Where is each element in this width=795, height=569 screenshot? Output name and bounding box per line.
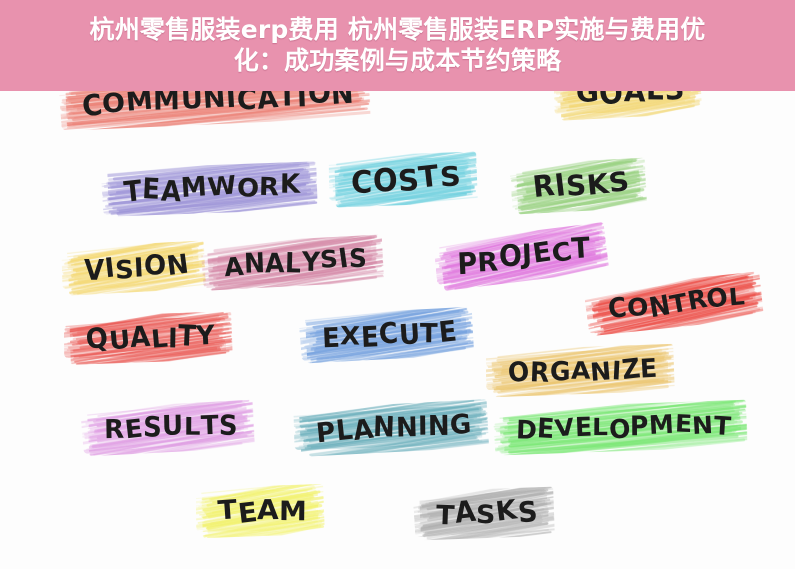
word-label: PLANNING [315,411,472,445]
letter: N [165,251,190,280]
letter: C [607,293,629,322]
letter: T [436,502,456,529]
letter: E [674,411,693,436]
letter: S [565,171,587,200]
wordcloud-word-teamwork: TEAMWORK [124,173,301,205]
letter: O [608,415,631,442]
letter: S [607,168,631,197]
letter: S [142,414,162,443]
letter: S [476,502,497,528]
wordcloud-word-execute: EXECUTE [321,318,457,351]
letter: V [84,257,105,285]
letter: E [360,323,380,352]
letter: D [516,417,538,443]
letter: E [640,355,659,382]
letter: M [180,173,208,202]
letter: Y [301,248,320,275]
letter: A [257,497,279,524]
letter: U [162,412,184,440]
wordcloud-word-development: DEVELOPMENT [516,411,732,443]
letter: O [372,164,398,197]
letter: V [553,415,575,441]
wordcloud-page: COMMUNICATIONGOALSTEAMWORKCOSTSRISKSVISI… [0,0,795,569]
letter: R [104,417,125,443]
word-label: EXECUTE [321,318,457,351]
letter: L [150,326,169,352]
letter: O [507,357,531,386]
letter: S [439,163,462,191]
letter: P [315,419,337,448]
letter: T [177,322,196,352]
wordcloud-word-control: CONTROL [607,284,746,323]
page-title-line-1: 杭州零售服装erp费用 杭州零售服装ERP实施与费用优 [90,14,706,45]
letter: C [351,167,373,198]
letter: R [259,175,280,200]
letter: I [418,413,428,439]
word-label: ORGANIZE [508,355,659,385]
letter: S [319,247,339,272]
wordcloud-word-costs: COSTS [351,163,462,196]
letter: A [223,254,245,281]
letter: C [378,319,400,349]
letter: P [457,249,479,280]
letter: L [592,415,609,439]
letter: K [585,170,610,200]
letter: N [373,413,396,442]
wordcloud-word-tasks: TASKS [436,498,539,529]
letter: N [692,413,715,438]
letter: E [123,416,144,443]
letter: Q [84,324,110,354]
letter: A [129,323,151,353]
wordcloud-word-vision: VISION [83,252,189,283]
letter: G [550,358,571,384]
wordcloud-word-planning: PLANNING [315,411,472,445]
letter: L [184,415,201,439]
letter: U [398,321,421,350]
letter: A [351,416,375,446]
letter: A [160,177,182,206]
letter: M [279,498,308,525]
letter: T [418,161,441,192]
letter: S [517,498,539,528]
letter: A [570,359,590,383]
letter: N [243,249,265,277]
letter: S [348,245,367,271]
letter: N [590,358,613,384]
letter: R [529,358,550,386]
letter: L [285,249,302,277]
letter: T [571,234,592,263]
letter: M [125,88,155,116]
page-title-banner: 杭州零售服装erp费用 杭州零售服装ERP实施与费用优 化：成功案例与成本节约策… [0,0,795,91]
letter: K [494,497,519,526]
wordcloud-word-quality: QUALITY [86,323,217,354]
word-label: VISION [83,252,189,283]
letter: O [498,241,523,272]
letter: Y [196,322,217,349]
wordcloud-word-results: RESULTS [103,412,238,445]
letter: E [437,317,458,347]
letter: E [322,325,341,353]
letter: E [574,414,593,441]
letter: E [142,175,162,204]
letter: A [453,497,478,528]
word-label: TASKS [436,498,539,529]
word-label: COSTS [351,163,462,196]
letter: G [449,411,473,439]
letter: T [420,321,438,347]
letter: E [236,499,259,528]
wordcloud-word-analysis: ANALYSIS [223,246,367,278]
page-title-line-2: 化：成功案例与成本节约策略 [234,45,562,76]
letter: L [728,284,746,309]
wordcloud-word-team: TEAM [218,495,309,526]
word-label: TEAMWORK [124,173,301,205]
word-label: DEVELOPMENT [516,411,732,443]
letter: S [114,258,134,284]
letter: N [395,414,418,442]
letter: T [217,497,238,525]
letter: O [626,294,650,320]
letter: U [108,327,132,354]
wordcloud-word-project: PROJECT [456,235,592,278]
letter: S [219,412,239,440]
letter: T [713,413,732,439]
word-label: RESULTS [103,412,238,445]
letter: M [649,411,676,438]
word-label: RISKS [532,169,630,202]
letter: K [280,171,301,198]
letter: P [630,412,649,439]
word-label: TEAM [218,495,309,526]
wordcloud-word-risks: RISKS [532,169,630,202]
letter: N [428,413,451,441]
letter: O [236,176,260,202]
letter: T [200,413,219,440]
word-label: QUALITY [86,323,217,354]
letter: X [340,324,361,350]
letter: O [102,90,127,118]
letter: O [144,252,167,280]
wordcloud-word-organize: ORGANIZE [508,355,659,385]
letter: W [206,173,238,201]
letter: R [477,249,500,276]
letter: A [265,250,285,277]
